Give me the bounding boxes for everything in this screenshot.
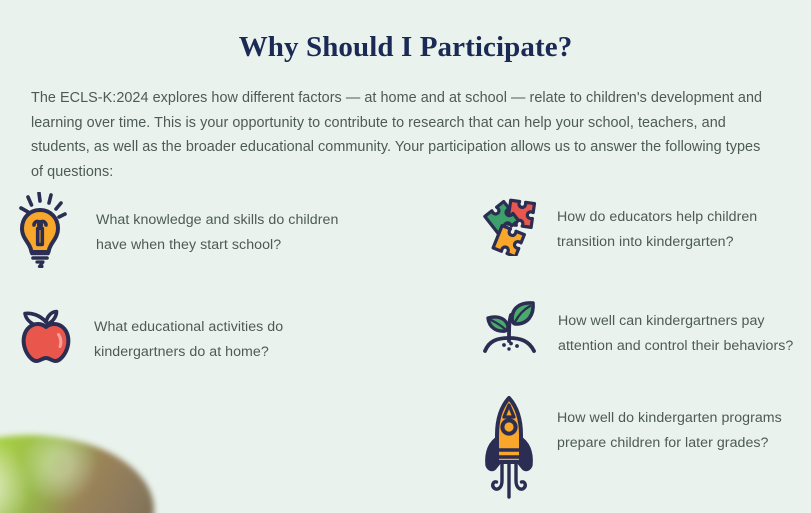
question-line-2: transition into kindergarten? [557, 230, 757, 255]
question-line-1: How well can kindergartners pay [558, 309, 793, 334]
sprout-icon [479, 299, 541, 359]
question-text-attention: How well can kindergartners pay attentio… [558, 309, 793, 359]
question-text-educators: How do educators help children transitio… [557, 205, 757, 255]
page-title: Why Should I Participate? [0, 31, 811, 64]
question-text-programs: How well do kindergarten programs prepar… [557, 406, 782, 456]
question-line-1: What educational activities do [94, 315, 283, 340]
rocket-icon [479, 393, 539, 499]
question-text-knowledge: What knowledge and skills do children ha… [96, 208, 338, 258]
decorative-photo-corner [0, 435, 154, 513]
question-line-1: What knowledge and skills do children [96, 208, 338, 233]
question-item-activities: What educational activities do kindergar… [13, 303, 353, 369]
question-item-educators: How do educators help children transitio… [479, 194, 809, 256]
puzzle-pieces-icon [479, 194, 541, 256]
question-text-activities: What educational activities do kindergar… [94, 315, 283, 365]
question-line-2: attention and control their behaviors? [558, 334, 793, 359]
apple-icon [13, 303, 79, 369]
intro-paragraph: The ECLS-K:2024 explores how different f… [31, 86, 775, 184]
question-line-1: How well do kindergarten programs [557, 406, 782, 431]
question-line-2: prepare children for later grades? [557, 431, 782, 456]
page-root: Why Should I Participate? The ECLS-K:202… [0, 0, 811, 513]
question-item-attention: How well can kindergartners pay attentio… [479, 299, 809, 359]
question-item-knowledge: What knowledge and skills do children ha… [16, 192, 376, 268]
question-item-programs: How well do kindergarten programs prepar… [479, 393, 809, 499]
lightbulb-icon [16, 192, 80, 268]
question-line-1: How do educators help children [557, 205, 757, 230]
question-line-2: have when they start school? [96, 233, 338, 258]
question-line-2: kindergartners do at home? [94, 340, 283, 365]
